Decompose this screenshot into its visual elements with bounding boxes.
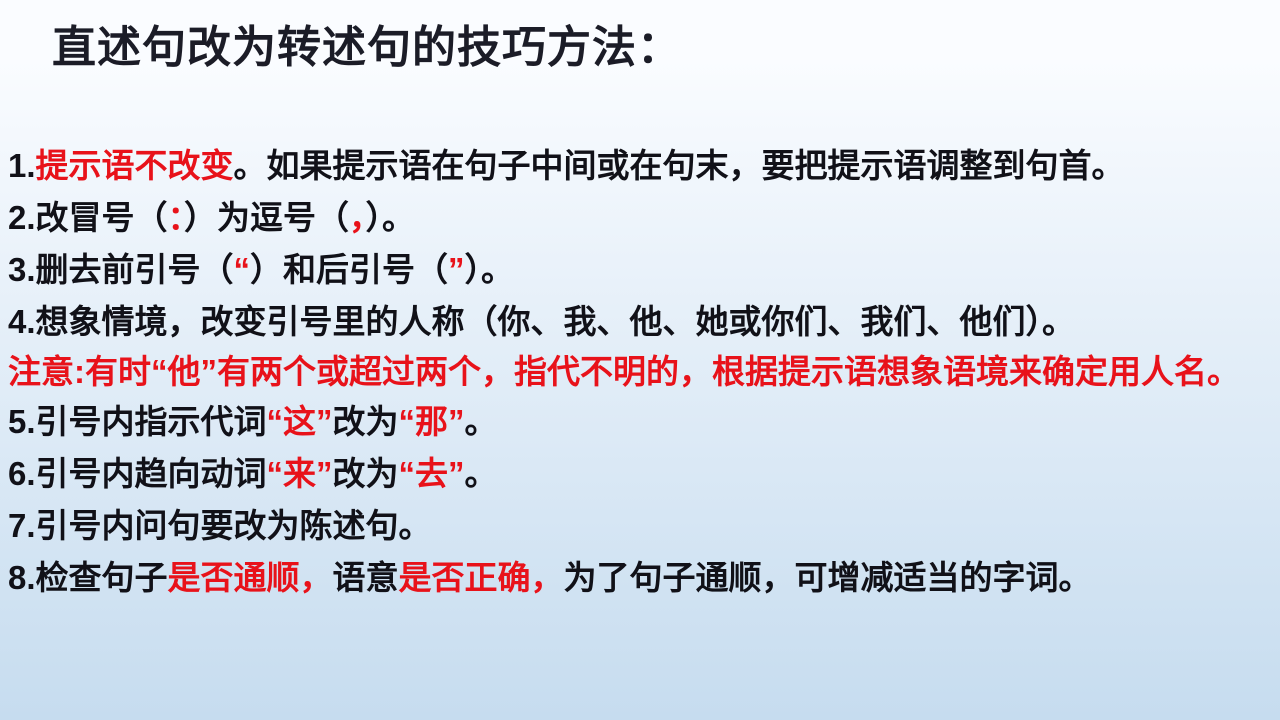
segment-rule-8-4: 为了句子通顺，可增减适当的字词。	[564, 559, 1092, 596]
segment-rule-1-1: 提示语不改变	[36, 147, 234, 184]
text-line-rule-6: 6.引号内趋向动词“来”改为“去”。	[8, 448, 1276, 500]
text-line-rule-8: 8.检查句子是否通顺，语意是否正确，为了句子通顺，可增减适当的字词。	[8, 552, 1276, 604]
segment-rule-3-4: ）。	[465, 251, 515, 288]
segment-rule-6-2: 改为	[333, 455, 399, 492]
segment-note-0: 注意:有时“他”有两个或超过两个，指代不明的，根据提示语想象语境来确定用人名。	[8, 353, 1240, 390]
segment-rule-8-3: 是否正确，	[399, 559, 564, 596]
segment-rule-3-0: 3.删去前引号（	[8, 251, 234, 288]
segment-rule-5-2: 改为	[333, 403, 399, 440]
page-title: 直述句改为转述句的技巧方法：	[52, 22, 682, 75]
segment-rule-4-0: 4.想象情境，改变引号里的人称（你、我、他、她或你们、我们、他们）。	[8, 303, 1075, 340]
segment-rule-2-3: ，	[349, 199, 366, 236]
segment-rule-2-2: ）为逗号（	[184, 199, 349, 236]
text-line-note: 注意:有时“他”有两个或超过两个，指代不明的，根据提示语想象语境来确定用人名。	[8, 348, 1276, 396]
segment-rule-8-0: 8.检查句子	[8, 559, 168, 596]
segment-rule-2-1: ：	[168, 199, 185, 236]
text-line-rule-2: 2.改冒号（：）为逗号（，）。	[8, 192, 1276, 244]
text-line-rule-1: 1.提示语不改变。如果提示语在句子中间或在句末，要把提示语调整到句首。	[8, 140, 1276, 192]
segment-rule-6-4: 。	[465, 455, 498, 492]
segment-rule-5-3: “那”	[399, 403, 465, 440]
segment-rule-6-3: “去”	[399, 455, 465, 492]
segment-rule-5-4: 。	[465, 403, 498, 440]
rules-list: 1.提示语不改变。如果提示语在句子中间或在句末，要把提示语调整到句首。 2.改冒…	[8, 140, 1276, 604]
segment-rule-6-1: “来”	[267, 455, 333, 492]
segment-rule-3-1: “	[234, 251, 251, 288]
segment-rule-3-3: ”	[448, 251, 465, 288]
slide-canvas: 直述句改为转述句的技巧方法： 1.提示语不改变。如果提示语在句子中间或在句末，要…	[0, 0, 1280, 720]
segment-rule-8-2: 语意	[333, 559, 399, 596]
segment-rule-5-0: 5.引号内指示代词	[8, 403, 267, 440]
text-line-rule-7: 7.引号内问句要改为陈述句。	[8, 500, 1276, 552]
segment-rule-7-0: 7.引号内问句要改为陈述句。	[8, 507, 432, 544]
segment-rule-2-4: ）。	[366, 199, 416, 236]
segment-rule-1-0: 1.	[8, 147, 36, 184]
segment-rule-1-2: 。如果提示语在句子中间或在句末，要把提示语调整到句首。	[234, 147, 1125, 184]
text-line-rule-4: 4.想象情境，改变引号里的人称（你、我、他、她或你们、我们、他们）。	[8, 296, 1276, 348]
segment-rule-8-1: 是否通顺，	[168, 559, 333, 596]
text-line-rule-3: 3.删去前引号（“）和后引号（”）。	[8, 244, 1276, 296]
segment-rule-3-2: ）和后引号（	[250, 251, 448, 288]
segment-rule-5-1: “这”	[267, 403, 333, 440]
text-line-rule-5: 5.引号内指示代词“这”改为“那”。	[8, 396, 1276, 448]
segment-rule-2-0: 2.改冒号（	[8, 199, 168, 236]
segment-rule-6-0: 6.引号内趋向动词	[8, 455, 267, 492]
